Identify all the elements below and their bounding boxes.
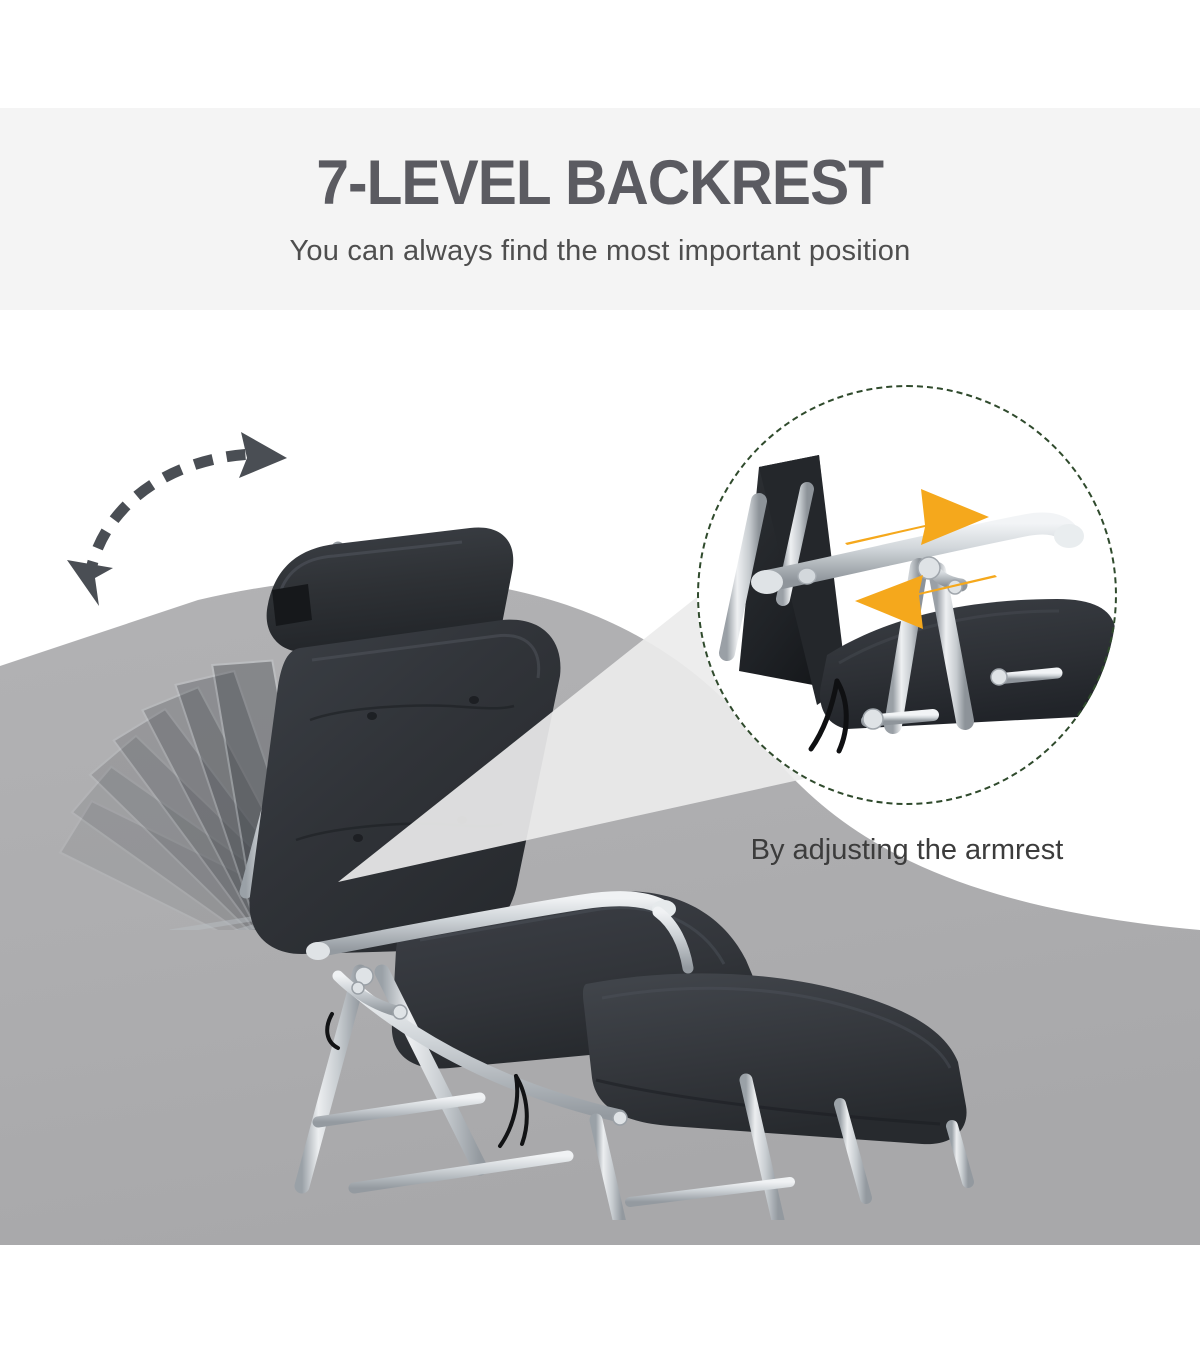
product-illustration-stage: By adjusting the armrest bbox=[0, 310, 1200, 1372]
magnifier-circle-icon bbox=[697, 385, 1117, 805]
page-title: 7-LEVEL BACKREST bbox=[317, 150, 884, 216]
inset-caption: By adjusting the armrest bbox=[697, 834, 1117, 867]
page-subtitle: You can always find the most important p… bbox=[290, 235, 911, 268]
header-band: 7-LEVEL BACKREST You can always find the… bbox=[0, 108, 1200, 310]
footrest-cushion bbox=[583, 973, 967, 1144]
